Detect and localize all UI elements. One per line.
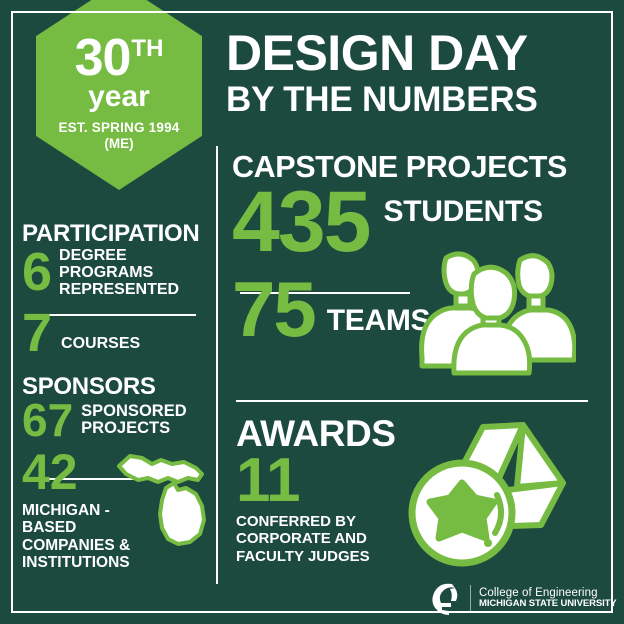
infographic-poster: 30 TH year EST. SPRING 1994 (ME) DESIGN … [0,0,624,624]
stat-label-teams: TEAMS [327,304,431,342]
stat-label-sponsored-projects: SPONSORED PROJECTS [81,403,210,438]
students-group-icon [416,240,576,386]
stat-courses: 7 COURSES [22,311,210,357]
logo-separator [470,585,471,611]
divider-awards [236,400,588,402]
stat-value-courses: 7 [22,311,52,357]
anniversary-badge: 30 TH year EST. SPRING 1994 (ME) [36,0,202,190]
left-statistics-column: PARTICIPATION 6 DEGREE PROGRAMS REPRESEN… [22,222,210,571]
stat-label-courses: COURSES [61,336,140,357]
stat-label-students: STUDENTS [384,195,543,229]
logo-university-name: MICHIGAN STATE UNIVERSITY [479,599,617,609]
award-medal-icon [388,413,588,578]
msu-logo: College of Engineering MICHIGAN STATE UN… [428,578,604,618]
right-statistics-column: CAPSTONE PROJECTS 435 STUDENTS 75 TEAMS [232,152,604,342]
awards-section: AWARDS 11 CONFERRED BY CORPORATE AND FAC… [236,415,596,566]
stat-value-teams: 75 [232,276,315,342]
anniversary-badge-text: 30 TH year EST. SPRING 1994 (ME) [36,0,202,190]
stat-value-degree-programs: 6 [22,250,52,296]
page-title: DESIGN DAY BY THE NUMBERS [226,28,602,119]
title-primary: DESIGN DAY [226,28,602,78]
anniversary-year-word: year [88,81,150,113]
department-abbreviation: (ME) [104,136,133,151]
logo-wordmark: College of Engineering MICHIGAN STATE UN… [479,587,617,610]
michigan-map-icon [114,442,218,548]
stat-sponsored-projects: 67 SPONSORED PROJECTS [22,401,210,440]
stat-value-students: 435 [232,185,370,261]
stat-degree-programs: 6 DEGREE PROGRAMS REPRESENTED [22,248,210,299]
awards-caption: CONFERRED BY CORPORATE AND FACULTY JUDGE… [236,513,386,566]
anniversary-number: 30 [75,35,131,83]
anniversary-number-row: 30 TH [75,35,164,83]
title-secondary: BY THE NUMBERS [226,82,602,119]
spartan-helmet-icon [428,581,462,615]
anniversary-ordinal: TH [131,38,163,60]
established-date: EST. SPRING 1994 [58,120,179,135]
stat-michigan-companies: 42 MICHIGAN -BASED COMPANIES & INSTITUTI… [22,450,210,571]
stat-value-sponsored-projects: 67 [22,401,73,440]
stat-label-degree-programs: DEGREE PROGRAMS REPRESENTED [59,248,210,299]
